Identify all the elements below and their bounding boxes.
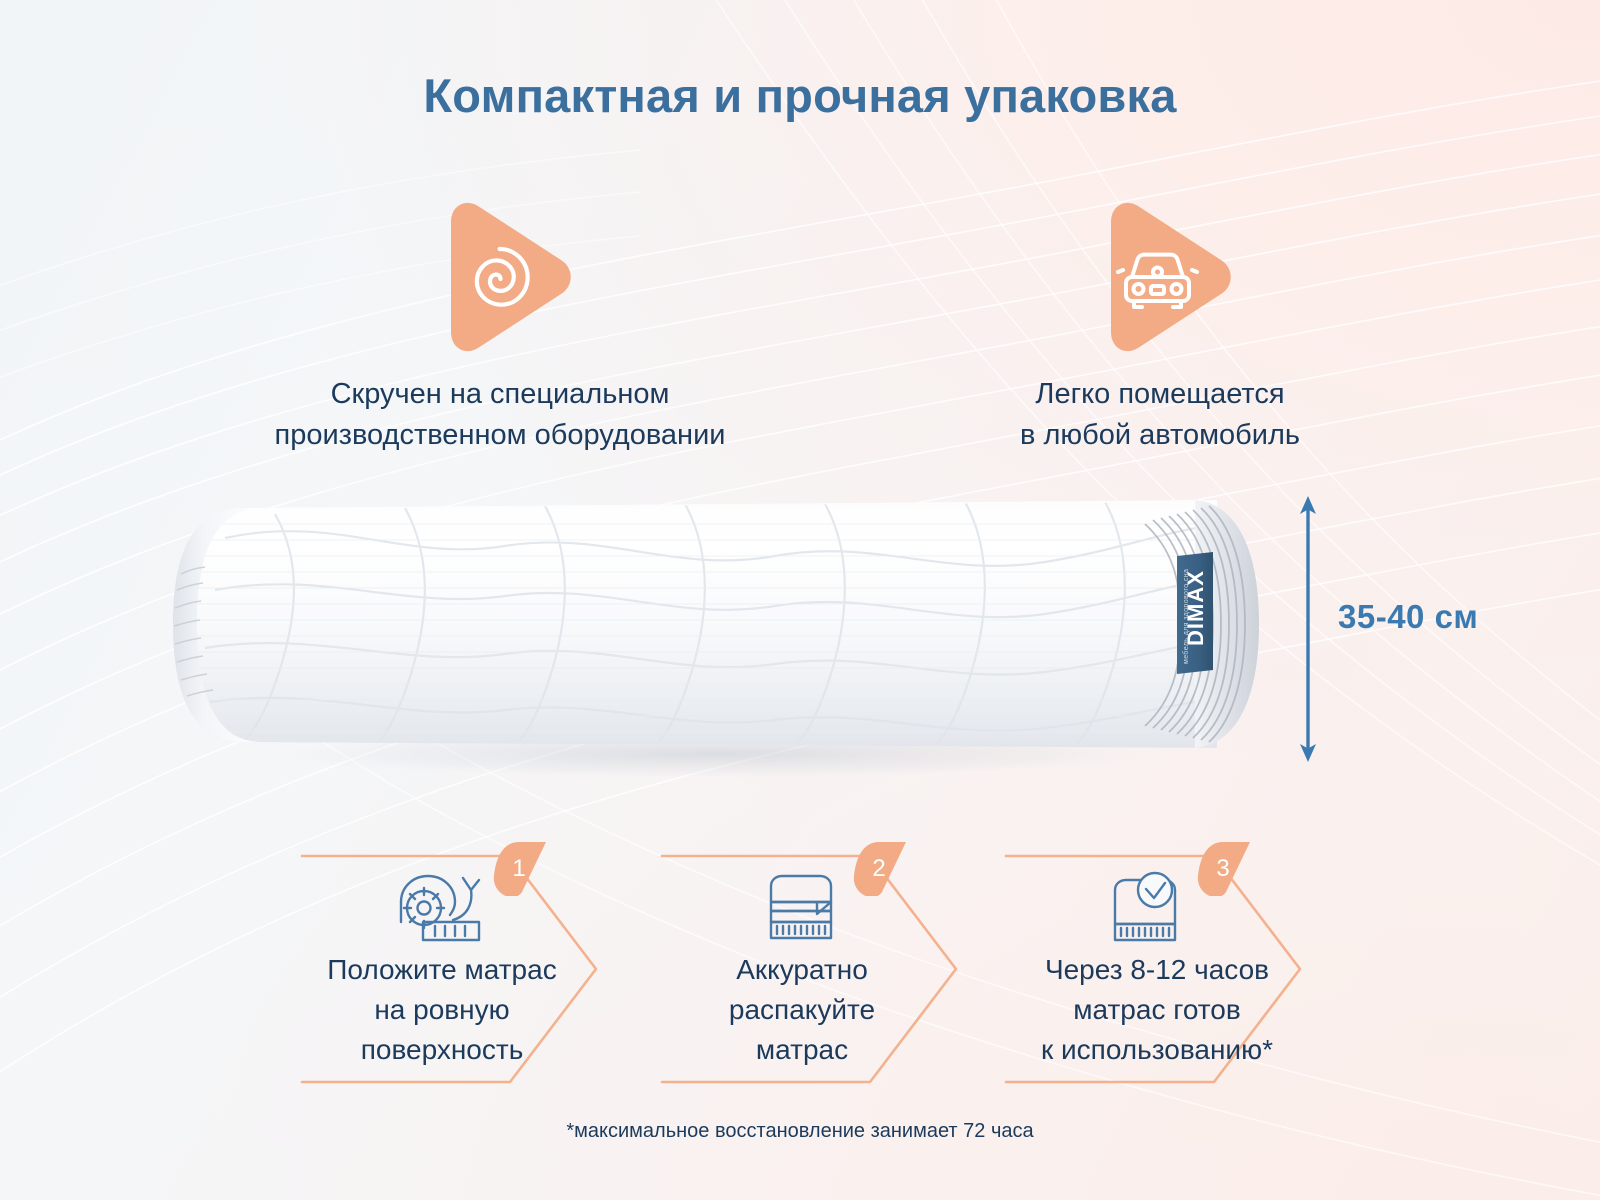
step-line-1: Аккуратно (644, 950, 960, 990)
step-line-1: Положите матрас (284, 950, 600, 990)
steps-list: 1 Положите матрас на ровную пов (0, 838, 1600, 1100)
step-item-1: 1 Положите матрас на ровную пов (296, 838, 636, 1100)
step-line-3: матрас (644, 1030, 960, 1070)
car-icon (1085, 198, 1235, 356)
feature-line-2: производственном оборудовании (145, 415, 855, 456)
step-line-3: поверхность (284, 1030, 600, 1070)
feature-text-car: Легко помещается в любой автомобиль (860, 374, 1460, 456)
brand-tag: DIMAX мебель для здорового сна (1177, 552, 1213, 674)
step-item-2: 2 Аккуратно распакуйте матрас (656, 838, 996, 1100)
step-text-3: Через 8-12 часов матрас готов к использо… (992, 950, 1322, 1070)
step-item-3: 3 Через 8-12 часов матрас готов к исполь… (1000, 838, 1340, 1100)
svg-text:мебель для здорового сна: мебель для здорового сна (1182, 569, 1190, 664)
step-text-2: Аккуратно распакуйте матрас (644, 950, 960, 1070)
step-text-1: Положите матрас на ровную поверхность (284, 950, 600, 1070)
step-line-2: на ровную (284, 990, 600, 1030)
step-line-3: к использованию* (992, 1030, 1322, 1070)
spiral-icon (425, 198, 575, 356)
feature-line-1: Скручен на специальном (145, 374, 855, 415)
page-title: Компактная и прочная упаковка (0, 68, 1600, 123)
dimension-label: 35-40 см (1338, 598, 1478, 636)
double-arrow-vertical-icon (1286, 494, 1346, 764)
infographic-canvas: Компактная и прочная упаковка Скручен на… (0, 0, 1600, 1200)
feature-item-car: Легко помещается в любой автомобиль (860, 196, 1460, 456)
rolled-mattress-image: DIMAX мебель для здорового сна (155, 478, 1295, 798)
step-line-2: матрас готов (992, 990, 1322, 1030)
feature-line-2: в любой автомобиль (860, 415, 1460, 456)
dimension-indicator: 35-40 см (1286, 494, 1586, 764)
feature-icon-badge (860, 196, 1460, 358)
feature-item-rolled: Скручен на специальном производственном … (145, 196, 855, 456)
step-line-1: Через 8-12 часов (992, 950, 1322, 990)
footnote-text: *максимальное восстановление занимает 72… (0, 1120, 1600, 1143)
mattress-check-icon (1000, 870, 1290, 953)
feature-icon-badge (145, 196, 855, 358)
step-line-2: распакуйте (644, 990, 960, 1030)
measuring-tape-icon (296, 870, 586, 951)
feature-text-rolled: Скручен на специальном производственном … (145, 374, 855, 456)
feature-line-1: Легко помещается (860, 374, 1460, 415)
mattress-unwrap-icon (656, 870, 946, 951)
feature-list: Скручен на специальном производственном … (0, 196, 1600, 456)
